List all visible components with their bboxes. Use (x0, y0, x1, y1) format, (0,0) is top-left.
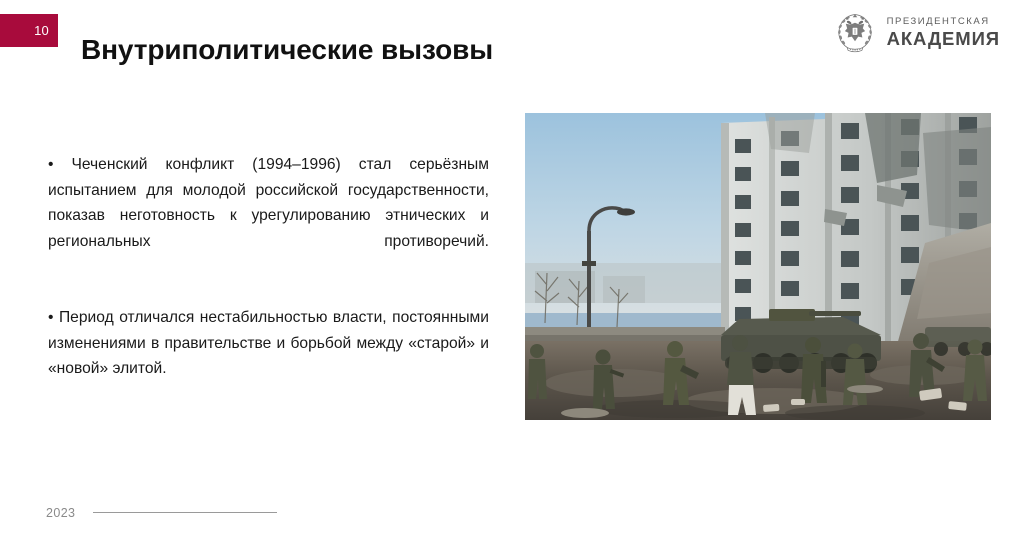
footer-divider (93, 512, 277, 513)
slide-number-badge: 10 (0, 14, 58, 47)
bullet-paragraph-1: • Чеченский конфликт (1994–1996) стал се… (48, 152, 489, 280)
slide-footer: 2023 (46, 507, 277, 520)
slide-number: 10 (34, 24, 49, 37)
brand-logo-line2: АКАДЕМИЯ (887, 28, 1000, 49)
presentation-slide: 10 Внутриполитические вызовы (0, 0, 1024, 539)
page-title: Внутриполитические вызовы (81, 33, 493, 67)
bullet-paragraph-2: • Период отличался нестабильностью власт… (48, 305, 489, 382)
brand-logo: ПРЕЗИДЕНТСКАЯ АКАДЕМИЯ (832, 9, 1000, 55)
brand-logo-text: ПРЕЗИДЕНТСКАЯ АКАДЕМИЯ (887, 15, 1000, 50)
double-headed-eagle-crest-icon (832, 9, 878, 55)
brand-logo-line1: ПРЕЗИДЕНТСКАЯ (887, 17, 1000, 27)
slide-body-text: • Чеченский конфликт (1994–1996) стал се… (48, 152, 489, 382)
war-damaged-city-photo (525, 113, 991, 420)
footer-year: 2023 (46, 507, 75, 520)
